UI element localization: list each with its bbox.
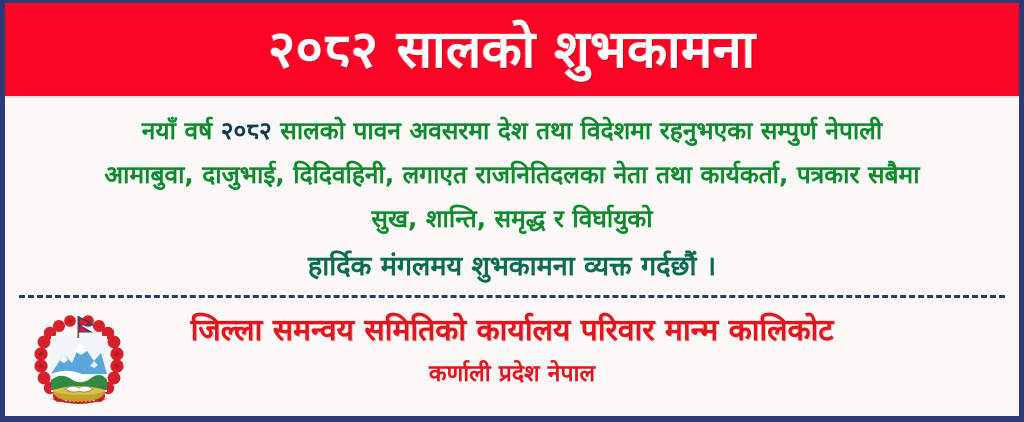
page-title: २०८२ सालको शुभकामना — [268, 24, 755, 76]
footer: जिल्ला समन्वय समितिको कार्यालय परिवार मा… — [5, 301, 1019, 416]
message-line-1-after: सालको पावन अवसरमा देश तथा विदेशमा रहनुभए… — [272, 116, 883, 145]
message-line-2: आमाबुवा, दाजुभाई, दिदिवहिनी, लगाएत राजनि… — [23, 153, 1001, 197]
nepal-government-emblem — [31, 306, 127, 414]
message-line-3: सुख, शान्ति, समृद्ध र विर्घायुको — [23, 197, 1001, 241]
footer-province-name: कर्णाली प्रदेश नेपाल — [5, 355, 1019, 393]
message-body: नयाँ वर्ष २०८२ सालको पावन अवसरमा देश तथा… — [5, 99, 1019, 291]
message-year-highlight: २०८२ — [221, 116, 272, 145]
header-band: २०८२ सालको शुभकामना — [5, 3, 1019, 98]
greeting-banner: २०८२ सालको शुभकामना नयाँ वर्ष २०८२ सालको… — [0, 0, 1024, 422]
message-closing-line: हार्दिक मंगलमय शुभकामना व्यक्त गर्दछौं । — [23, 241, 1001, 293]
dashed-divider — [19, 295, 1005, 298]
footer-organization-name: जिल्ला समन्वय समितिको कार्यालय परिवार मा… — [5, 301, 1019, 355]
message-line-1-before: नयाँ वर्ष — [142, 116, 221, 145]
message-line-1: नयाँ वर्ष २०८२ सालको पावन अवसरमा देश तथा… — [23, 109, 1001, 153]
